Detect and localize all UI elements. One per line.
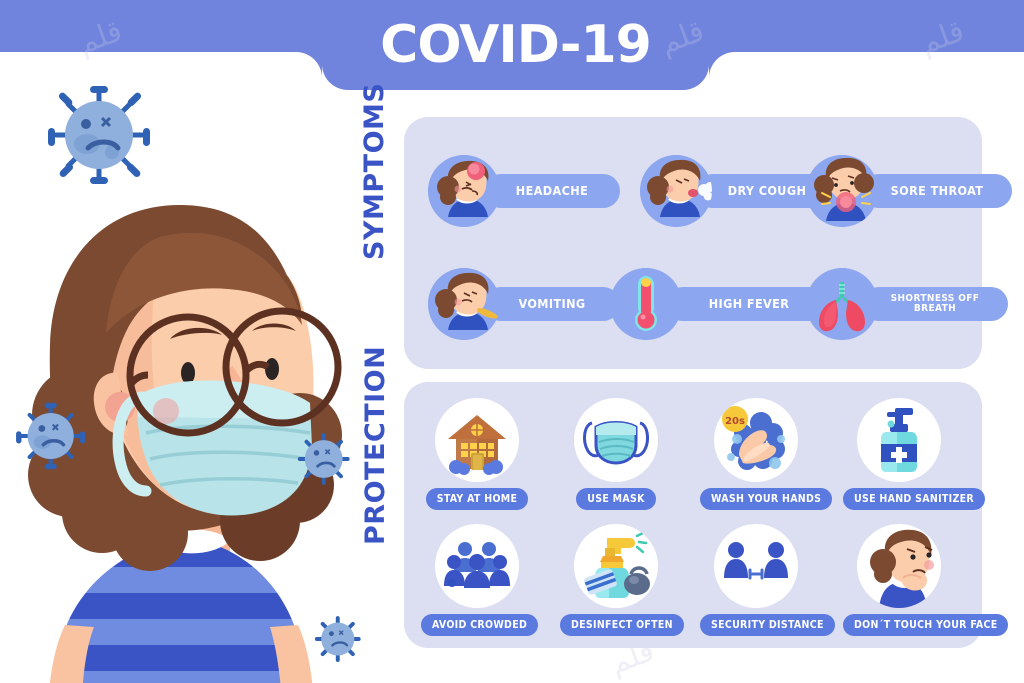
woman-vomiting-icon xyxy=(428,268,500,340)
symptom-label-vomiting: VOMITING xyxy=(484,287,620,321)
symptom-label-sore-throat: SORE THROAT xyxy=(862,174,1012,208)
protection-section-label: PROTECTION xyxy=(361,385,391,545)
title-block: COVID-19 xyxy=(322,0,709,90)
symptom-item-sore-throat[interactable]: SORE THROAT xyxy=(806,155,1012,227)
protection-label-stay-at-home: STAY AT HOME xyxy=(426,488,528,510)
protection-item-avoid-crowded[interactable]: AVOID CROWDED xyxy=(421,524,533,636)
protection-label-use-mask: USE MASK xyxy=(576,488,655,510)
protection-label-use-hand-sanitizer: USE HAND SANITIZER xyxy=(843,488,985,510)
symptom-item-shortness-of-breath[interactable]: SHORTNESS OFF BREATH xyxy=(806,268,1008,340)
protection-item-dont-touch-face[interactable]: DON´T TOUCH YOUR FACE xyxy=(843,524,955,636)
face-mask-icon xyxy=(574,398,658,482)
title-notch-left xyxy=(296,52,322,78)
protection-item-use-hand-sanitizer[interactable]: USE HAND SANITIZER xyxy=(843,398,955,510)
protection-label-wash-your-hands: WASH YOUR HANDS xyxy=(700,488,832,510)
touch-face-icon xyxy=(857,524,941,608)
symptom-item-headache[interactable]: HEADACHE xyxy=(428,155,620,227)
thermometer-icon xyxy=(610,268,682,340)
protection-label-desinfect-often: DESINFECT OFTEN xyxy=(560,614,684,636)
coronavirus-particle xyxy=(292,428,356,490)
protection-item-stay-at-home[interactable]: STAY AT HOME xyxy=(421,398,533,510)
lungs-icon xyxy=(806,268,878,340)
page-title: COVID-19 xyxy=(380,19,651,71)
coronavirus-particle xyxy=(42,80,157,190)
protection-item-use-mask[interactable]: USE MASK xyxy=(560,398,672,510)
symptom-label-shortness-of-breath: SHORTNESS OFF BREATH xyxy=(862,287,1008,321)
symptom-item-vomiting[interactable]: VOMITING xyxy=(428,268,620,340)
protection-label-avoid-crowded: AVOID CROWDED xyxy=(421,614,538,636)
house-icon xyxy=(435,398,519,482)
symptom-item-high-fever[interactable]: HIGH FEVER xyxy=(610,268,832,340)
protection-item-security-distance[interactable]: SECURITY DISTANCE xyxy=(700,524,812,636)
washing-hands-icon: 20s xyxy=(714,398,798,482)
symptom-label-headache: HEADACHE xyxy=(484,174,620,208)
protection-item-desinfect-often[interactable]: DESINFECT OFTEN xyxy=(560,524,672,636)
spray-bottle-icon xyxy=(574,524,658,608)
symptoms-section-label: SYMPTOMS xyxy=(360,120,390,260)
social-distance-icon xyxy=(714,524,798,608)
sanitizer-bottle-icon xyxy=(857,398,941,482)
title-notch-right xyxy=(709,52,735,78)
crowd-icon xyxy=(435,524,519,608)
protection-label-dont-touch-face: DON´T TOUCH YOUR FACE xyxy=(843,614,1008,636)
protection-item-wash-your-hands[interactable]: 20s WASH YOUR HANDS xyxy=(700,398,812,510)
coronavirus-particle xyxy=(12,398,90,474)
wash-timer-badge: 20s xyxy=(725,416,745,427)
infographic-canvas: COVID-19 قلم قلم قلم قلم قلم قلم قلم قلم… xyxy=(0,0,1024,683)
woman-coughing-icon xyxy=(640,155,712,227)
coronavirus-particle xyxy=(310,612,366,666)
woman-sore-throat-icon xyxy=(806,155,878,227)
protection-label-security-distance: SECURITY DISTANCE xyxy=(700,614,835,636)
woman-headache-icon xyxy=(428,155,500,227)
